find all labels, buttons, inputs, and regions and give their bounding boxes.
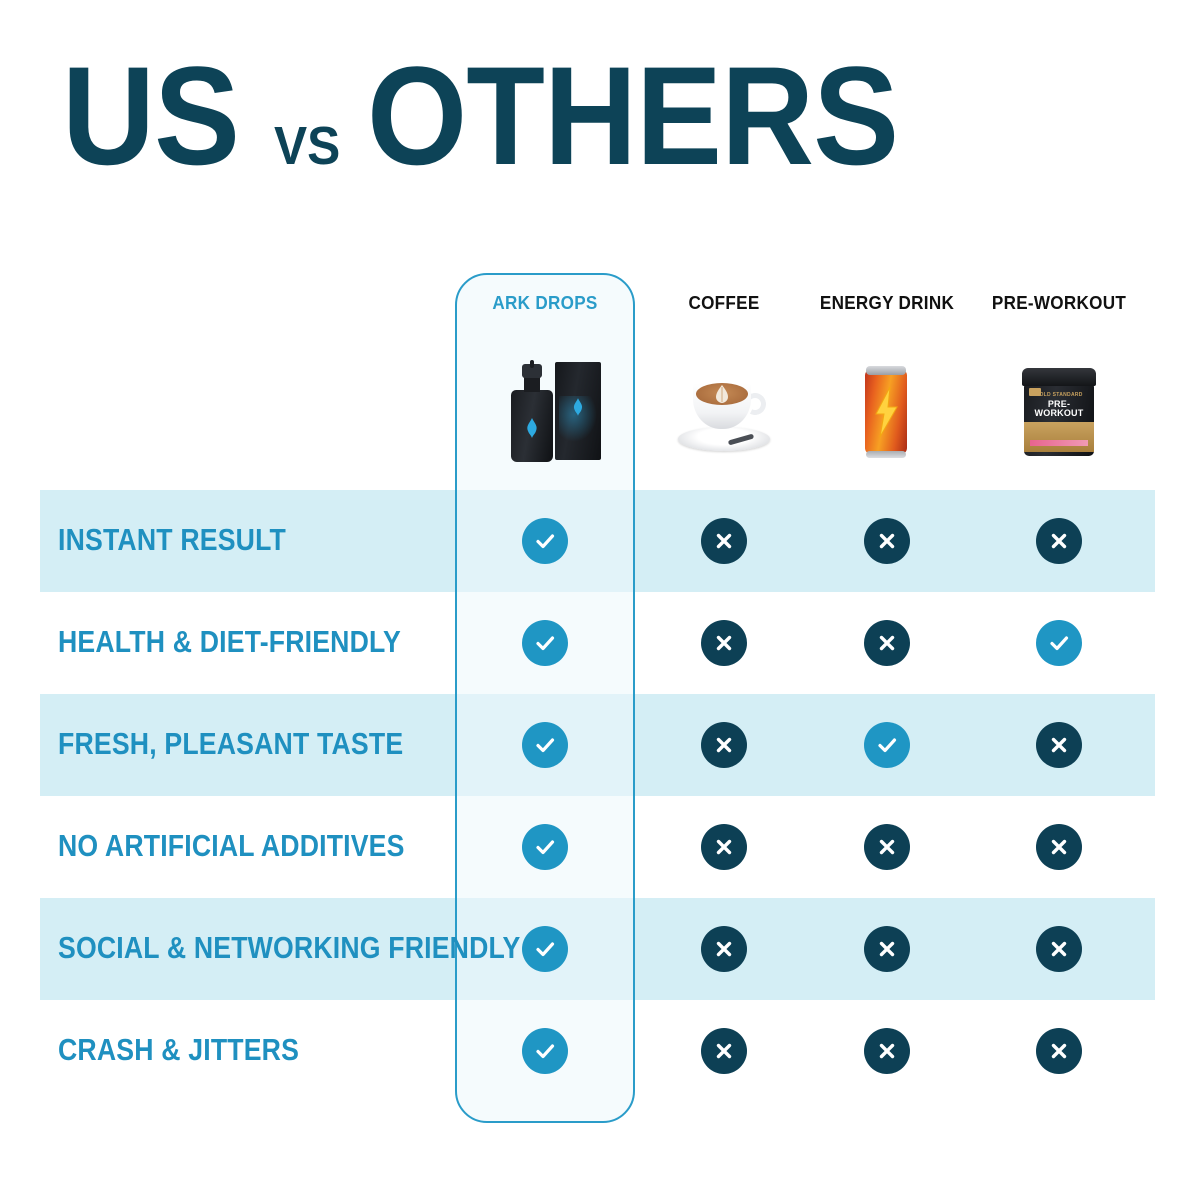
cross-icon bbox=[1036, 722, 1082, 768]
row-label: SOCIAL & NETWORKING FRIENDLY bbox=[58, 930, 521, 966]
title-vs: VS bbox=[274, 115, 340, 177]
cross-icon bbox=[864, 926, 910, 972]
check-icon bbox=[522, 518, 568, 564]
table-cell bbox=[696, 921, 752, 977]
product-image-cell bbox=[807, 357, 967, 467]
cross-icon bbox=[701, 824, 747, 870]
cross-icon bbox=[864, 620, 910, 666]
cross-icon bbox=[864, 824, 910, 870]
cross-icon bbox=[864, 1028, 910, 1074]
table-cell bbox=[859, 819, 915, 875]
table-cell bbox=[517, 717, 573, 773]
row-label: NO ARTIFICIAL ADDITIVES bbox=[58, 828, 405, 864]
comparison-table: ARK DROPSCOFFEEENERGY DRINKPRE-WORKOUTGO… bbox=[0, 265, 1200, 1135]
row-label: INSTANT RESULT bbox=[58, 522, 286, 558]
energy-drink-can-product-icon bbox=[857, 364, 917, 460]
table-cell bbox=[696, 1023, 752, 1079]
product-image-cell: GOLD STANDARDPRE-WORKOUT bbox=[979, 357, 1139, 467]
ark-drops-product-icon bbox=[489, 360, 601, 464]
check-icon bbox=[522, 824, 568, 870]
table-cell bbox=[517, 819, 573, 875]
table-grid: ARK DROPSCOFFEEENERGY DRINKPRE-WORKOUTGO… bbox=[0, 265, 1200, 1135]
check-icon bbox=[522, 620, 568, 666]
table-cell bbox=[1031, 615, 1087, 671]
table-cell bbox=[1031, 717, 1087, 773]
cross-icon bbox=[701, 1028, 747, 1074]
check-icon bbox=[522, 926, 568, 972]
column-header-pre-workout: PRE-WORKOUT bbox=[955, 293, 1164, 317]
title-others: OTHERS bbox=[367, 52, 898, 181]
cross-icon bbox=[1036, 518, 1082, 564]
check-icon bbox=[864, 722, 910, 768]
row-label: HEALTH & DIET-FRIENDLY bbox=[58, 624, 401, 660]
cross-icon bbox=[1036, 824, 1082, 870]
table-cell bbox=[517, 1023, 573, 1079]
table-cell bbox=[517, 615, 573, 671]
title-us: US bbox=[62, 52, 239, 181]
pre-workout-tub-product-icon: GOLD STANDARDPRE-WORKOUT bbox=[1016, 366, 1102, 458]
column-header-ark-drops: ARK DROPS bbox=[441, 293, 650, 317]
cross-icon bbox=[864, 518, 910, 564]
table-cell bbox=[1031, 921, 1087, 977]
table-cell bbox=[696, 615, 752, 671]
check-icon bbox=[522, 1028, 568, 1074]
product-image-cell bbox=[465, 357, 625, 467]
table-cell bbox=[517, 513, 573, 569]
check-icon bbox=[1036, 620, 1082, 666]
table-cell bbox=[696, 819, 752, 875]
cross-icon bbox=[1036, 1028, 1082, 1074]
table-cell bbox=[1031, 1023, 1087, 1079]
cross-icon bbox=[701, 518, 747, 564]
coffee-cup-product-icon bbox=[676, 369, 772, 455]
row-label: FRESH, PLEASANT TASTE bbox=[58, 726, 403, 762]
table-cell bbox=[859, 921, 915, 977]
page-title: US VS OTHERS bbox=[62, 52, 944, 181]
table-cell bbox=[696, 717, 752, 773]
check-icon bbox=[522, 722, 568, 768]
table-cell bbox=[859, 717, 915, 773]
row-label: CRASH & JITTERS bbox=[58, 1032, 299, 1068]
product-image-cell bbox=[644, 357, 804, 467]
table-cell bbox=[1031, 819, 1087, 875]
table-cell bbox=[859, 1023, 915, 1079]
table-cell bbox=[859, 513, 915, 569]
table-cell bbox=[696, 513, 752, 569]
table-cell bbox=[859, 615, 915, 671]
cross-icon bbox=[701, 926, 747, 972]
cross-icon bbox=[701, 722, 747, 768]
cross-icon bbox=[701, 620, 747, 666]
table-cell bbox=[517, 921, 573, 977]
table-cell bbox=[1031, 513, 1087, 569]
cross-icon bbox=[1036, 926, 1082, 972]
